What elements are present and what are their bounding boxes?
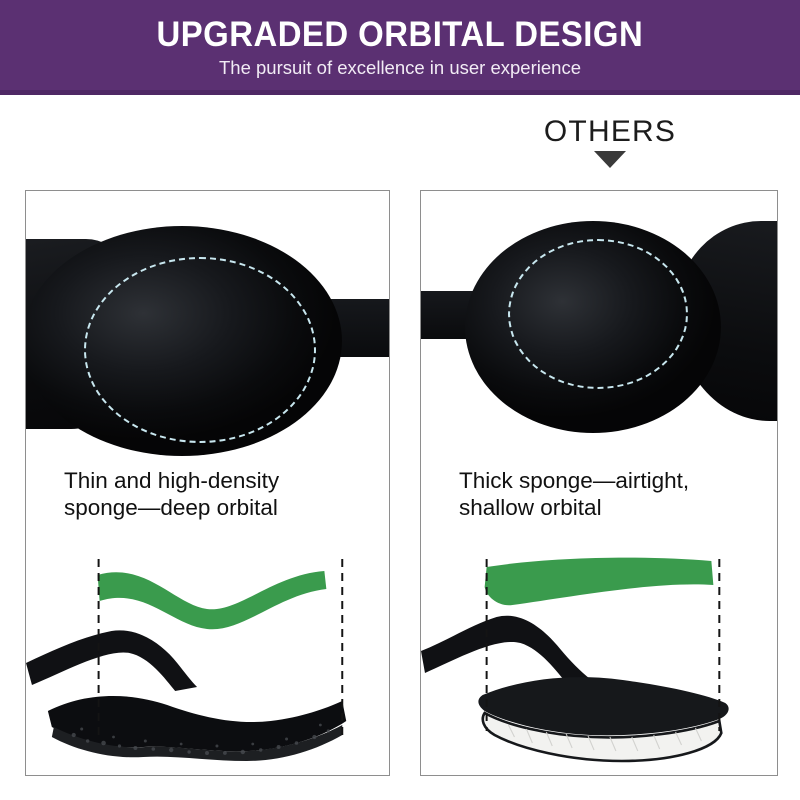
orbital-marker-large <box>84 257 316 443</box>
upgraded-design-panel: Thin and high-density sponge—deep orbita… <box>25 190 390 776</box>
side-strap <box>26 630 197 691</box>
upgraded-profile-diagram <box>26 545 389 775</box>
green-contour-profile <box>98 571 327 629</box>
others-callout: OTHERS <box>505 117 715 168</box>
side-strap-others <box>421 616 590 685</box>
upgraded-profile-svg <box>26 545 389 775</box>
page-title: UPGRADED ORBITAL DESIGN <box>157 17 644 52</box>
upgraded-caption: Thin and high-density sponge—deep orbita… <box>26 467 389 522</box>
others-label: OTHERS <box>544 117 676 147</box>
upgraded-mask-photo <box>26 191 389 463</box>
others-mask-photo <box>421 191 777 463</box>
header-banner: UPGRADED ORBITAL DESIGN The pursuit of e… <box>0 0 800 95</box>
others-profile-diagram <box>421 545 777 775</box>
green-crescent-profile <box>485 558 714 606</box>
orbital-marker-small <box>508 239 688 389</box>
banner-bottom-shade <box>0 90 800 95</box>
others-caption: Thick sponge—airtight, shallow orbital <box>421 467 777 522</box>
triangle-down-icon <box>594 151 626 168</box>
page-subtitle: The pursuit of excellence in user experi… <box>219 59 581 78</box>
others-design-panel: Thick sponge—airtight, shallow orbital <box>420 190 778 776</box>
others-profile-svg <box>421 545 777 775</box>
